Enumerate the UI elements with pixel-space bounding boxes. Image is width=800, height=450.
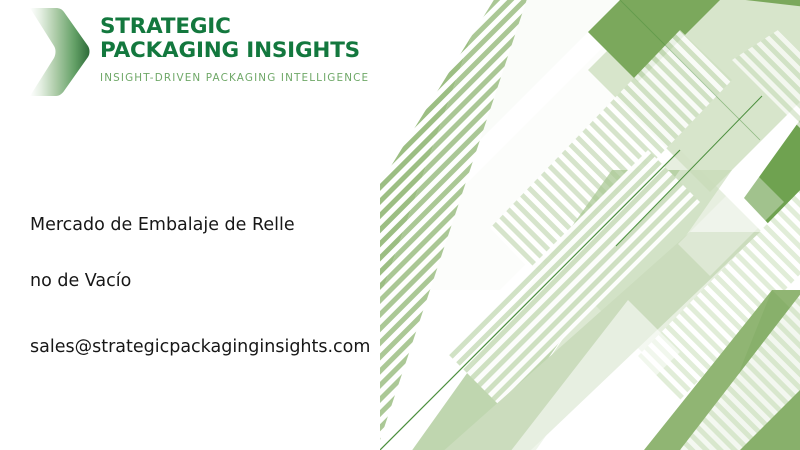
center-crossing-bands: [398, 150, 732, 450]
striped-band-upper-right: [490, 30, 800, 400]
artwork-fade-corner: [380, 0, 500, 200]
chevron-icon: [26, 6, 92, 98]
contact-email[interactable]: sales@strategicpackaginginsights.com: [30, 336, 430, 358]
logo-name-line-1: STRATEGIC: [100, 15, 369, 39]
diagonal-abstract-pattern: [380, 0, 800, 450]
chevron-logo-mark-icon: [26, 6, 92, 98]
artwork-svg: [380, 0, 800, 450]
logo-text-block: STRATEGIC PACKAGING INSIGHTS INSIGHT-DRI…: [100, 6, 369, 84]
pale-diamonds: [560, 0, 800, 390]
slide-content-block: Mercado de Embalaje de Relle no de Vacío…: [30, 214, 430, 358]
company-logo: STRATEGIC PACKAGING INSIGHTS INSIGHT-DRI…: [26, 6, 369, 98]
logo-name-line-2: PACKAGING INSIGHTS: [100, 39, 369, 63]
lower-right-bars: [422, 232, 800, 450]
dark-accent-shapes: [588, 0, 800, 270]
report-title-line-2: no de Vacío: [30, 270, 430, 292]
presentation-slide: STRATEGIC PACKAGING INSIGHTS INSIGHT-DRI…: [0, 0, 800, 450]
hairline-diagonals: [380, 0, 762, 450]
logo-tagline: INSIGHT-DRIVEN PACKAGING INTELLIGENCE: [100, 72, 369, 84]
white-overlay-wedges: [496, 58, 784, 450]
report-title-line-1: Mercado de Embalaje de Relle: [30, 214, 430, 236]
striped-corner-lower-right: [680, 30, 800, 450]
pale-wash-bands: [380, 0, 800, 290]
